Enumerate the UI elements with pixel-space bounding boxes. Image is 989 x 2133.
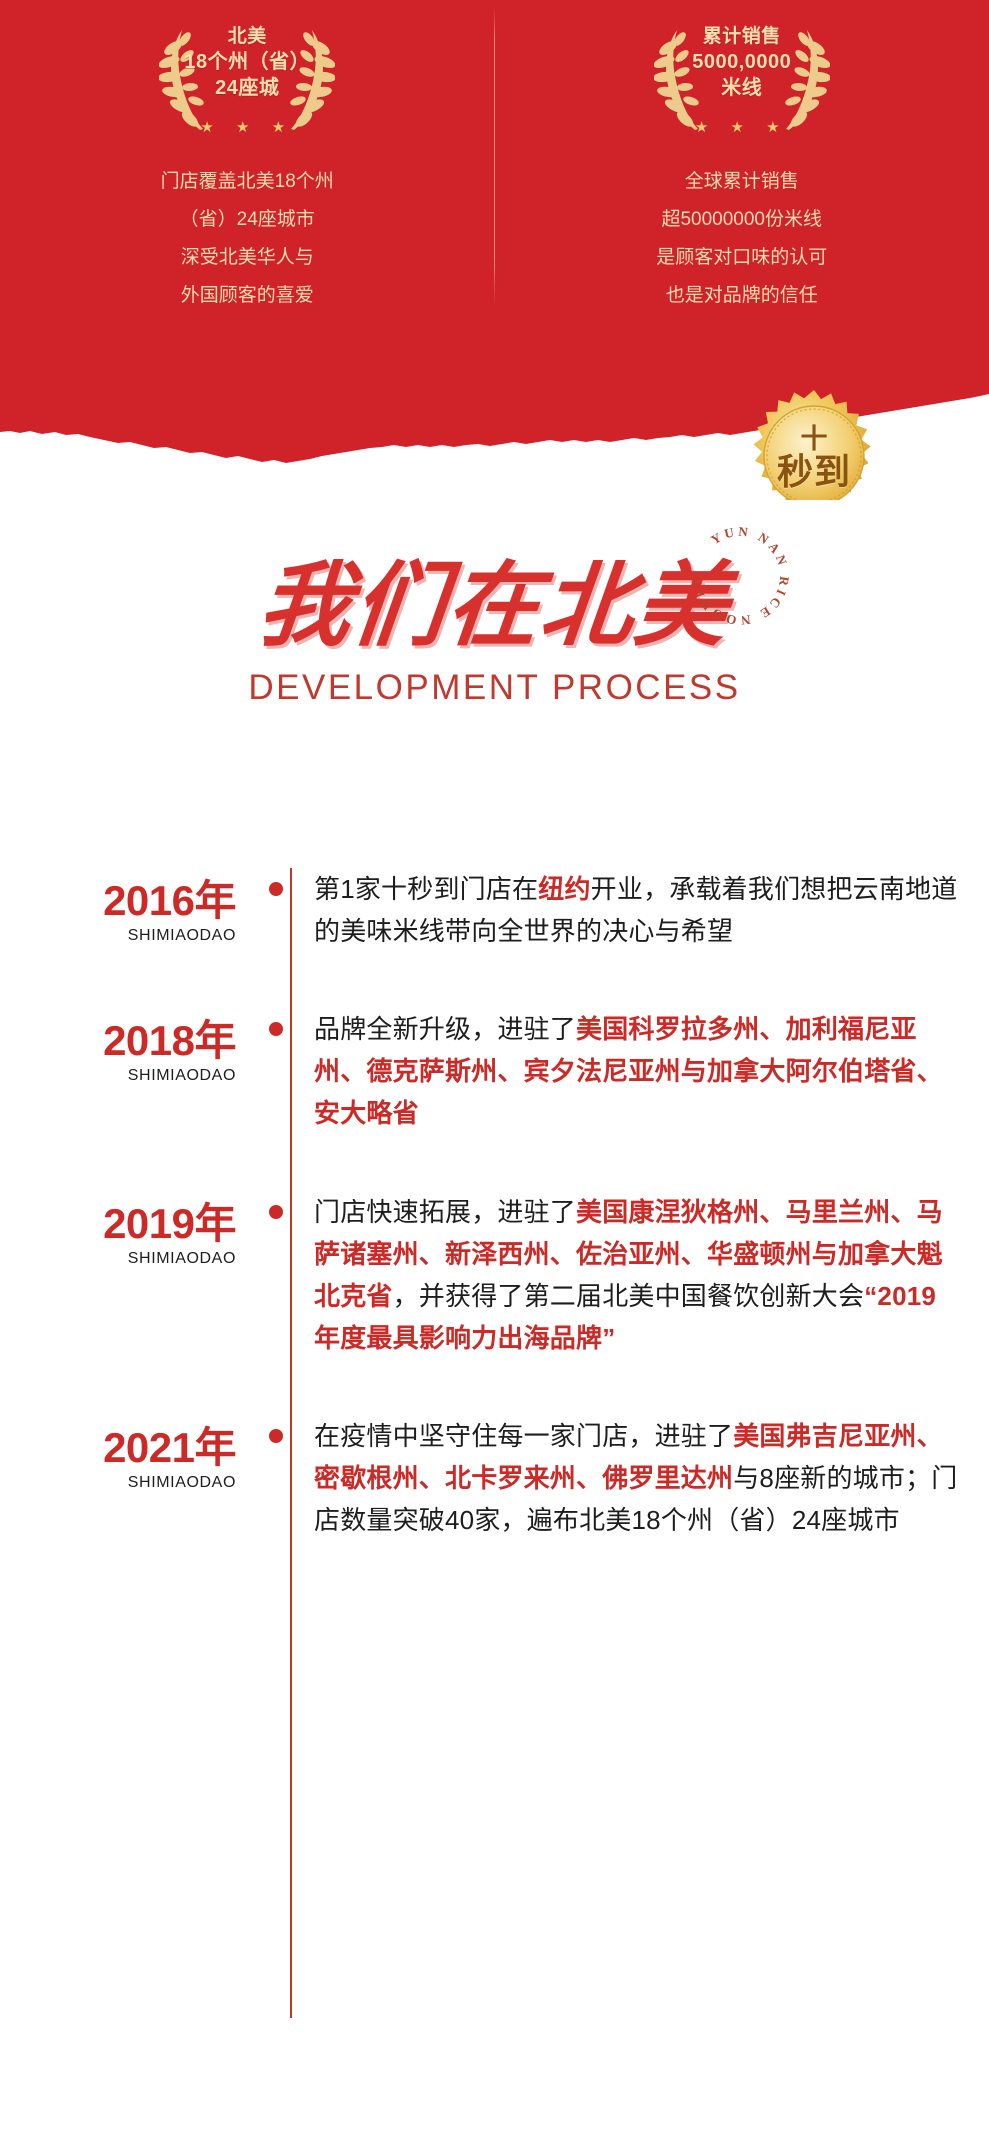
emblem-line-3: 24座城 xyxy=(97,75,397,101)
timeline-year: 2019年 xyxy=(0,1203,236,1245)
hero-paragraph-line: 也是对品牌的信任 xyxy=(656,277,827,315)
svg-text:YUN NAN RICE NOODLE: YUN NAN RICE NOODLE xyxy=(687,524,792,629)
timeline-marker-cell xyxy=(252,868,314,928)
timeline-description: 门店快速拓展，进驻了美国康涅狄格州、马里兰州、马萨诸塞州、新泽西州、佐治亚州、华… xyxy=(314,1191,989,1359)
timeline-dot-icon xyxy=(269,882,283,896)
seal-text-bottom: 秒到 xyxy=(777,453,851,491)
emblem-line-1: 累计销售 xyxy=(592,24,892,49)
timeline-description: 第1家十秒到门店在纽约开业，承载着我们想把云南地道的美味米线带向全世界的决心与希… xyxy=(314,868,989,952)
timeline-pinyin: SHIMIAODAO xyxy=(0,927,236,945)
emblem-text-left: 北美 18个州（省） 24座城 xyxy=(97,24,397,102)
timeline-dot-icon xyxy=(269,1205,283,1219)
hero-paragraph-line: （省）24座城市 xyxy=(161,201,334,239)
emblem-line-1: 北美 xyxy=(97,24,397,49)
hero-paragraph-line: 是顾客对口味的认可 xyxy=(656,239,827,277)
laurel-emblem-left: 北美 18个州（省） 24座城 ★ ★ ★ xyxy=(97,18,397,143)
hero-vertical-divider xyxy=(494,6,495,306)
seal-text: 十 秒到 xyxy=(744,388,884,500)
timeline-marker-cell xyxy=(252,1415,314,1475)
timeline-year-block: 2021年 SHIMIAODAO xyxy=(0,1415,252,1492)
emblem-line-2: 5000,0000 xyxy=(592,49,892,75)
timeline-row: 2019年 SHIMIAODAO 门店快速拓展，进驻了美国康涅狄格州、马里兰州、… xyxy=(0,1191,989,1359)
timeline-year-block: 2016年 SHIMIAODAO xyxy=(0,868,252,945)
timeline-marker-cell xyxy=(252,1008,314,1068)
timeline-segment: 品牌全新升级，进驻了 xyxy=(314,1014,576,1044)
hero-paragraph-line: 全球累计销售 xyxy=(656,163,827,201)
timeline-row: 2016年 SHIMIAODAO 第1家十秒到门店在纽约开业，承载着我们想把云南… xyxy=(0,868,989,952)
hero-columns: 北美 18个州（省） 24座城 ★ ★ ★ 门店覆盖北美18个州 （省）24座城… xyxy=(0,0,989,430)
laurel-emblem-right: 累计销售 5000,0000 米线 ★ ★ ★ xyxy=(592,18,892,143)
timeline-description: 在疫情中坚守住每一家门店，进驻了美国弗吉尼亚州、密歇根州、北卡罗来州、佛罗里达州… xyxy=(314,1415,989,1541)
timeline-row: 2021年 SHIMIAODAO 在疫情中坚守住每一家门店，进驻了美国弗吉尼亚州… xyxy=(0,1415,989,1541)
hero-banner: 北美 18个州（省） 24座城 ★ ★ ★ 门店覆盖北美18个州 （省）24座城… xyxy=(0,0,989,500)
hero-paragraph-right: 全球累计销售 超50000000份米线 是顾客对口味的认可 也是对品牌的信任 xyxy=(656,163,827,315)
emblem-stars-left: ★ ★ ★ xyxy=(97,118,397,136)
timeline-segment: 门店快速拓展，进驻了 xyxy=(314,1197,576,1227)
hero-paragraph-line: 门店覆盖北美18个州 xyxy=(161,163,334,201)
page-subtitle: DEVELOPMENT PROCESS xyxy=(0,668,989,708)
emblem-line-2: 18个州（省） xyxy=(97,49,397,75)
hero-paragraph-line: 外国顾客的喜爱 xyxy=(161,277,334,315)
timeline-pinyin: SHIMIAODAO xyxy=(0,1250,236,1268)
timeline-marker-cell xyxy=(252,1191,314,1251)
timeline-dot-icon xyxy=(269,1429,283,1443)
timeline-segment: ，并获得了第二届北美中国餐饮创新大会 xyxy=(393,1281,865,1311)
hero-paragraph-line: 超50000000份米线 xyxy=(656,201,827,239)
timeline-year-block: 2019年 SHIMIAODAO xyxy=(0,1191,252,1268)
timeline-segment-highlight: 纽约 xyxy=(538,874,590,904)
circular-brand-logo-icon: YUN NAN RICE NOODLE xyxy=(680,516,800,636)
timeline-description: 品牌全新升级，进驻了美国科罗拉多州、加利福尼亚州、德克萨斯州、宾夕法尼亚州与加拿… xyxy=(314,1008,989,1134)
timeline-pinyin: SHIMIAODAO xyxy=(0,1067,236,1085)
hero-paragraph-line: 深受北美华人与 xyxy=(161,239,334,277)
timeline-segment: 第1家十秒到门店在 xyxy=(314,874,538,904)
emblem-text-right: 累计销售 5000,0000 米线 xyxy=(592,24,892,102)
timeline-year: 2021年 xyxy=(0,1427,236,1469)
hero-paragraph-left: 门店覆盖北美18个州 （省）24座城市 深受北美华人与 外国顾客的喜爱 xyxy=(161,163,334,315)
emblem-stars-right: ★ ★ ★ xyxy=(592,118,892,136)
gold-seal-badge: 十 秒到 xyxy=(744,388,884,500)
title-wrap: 我们在北美 YUN NAN RICE NOODLE xyxy=(259,560,729,652)
section-title-block: 我们在北美 YUN NAN RICE NOODLE DEVELOPMENT PR… xyxy=(0,560,989,708)
timeline-year-block: 2018年 SHIMIAODAO xyxy=(0,1008,252,1085)
timeline-year: 2018年 xyxy=(0,1020,236,1062)
development-timeline: 2016年 SHIMIAODAO 第1家十秒到门店在纽约开业，承载着我们想把云南… xyxy=(0,868,989,1587)
hero-column-right: 累计销售 5000,0000 米线 ★ ★ ★ 全球累计销售 超50000000… xyxy=(495,0,989,430)
timeline-dot-icon xyxy=(269,1022,283,1036)
page-title: 我们在北美 xyxy=(255,560,735,652)
emblem-line-3: 米线 xyxy=(592,75,892,101)
timeline-year: 2016年 xyxy=(0,880,236,922)
hero-column-left: 北美 18个州（省） 24座城 ★ ★ ★ 门店覆盖北美18个州 （省）24座城… xyxy=(0,0,495,430)
timeline-pinyin: SHIMIAODAO xyxy=(0,1474,236,1492)
timeline-segment: 在疫情中坚守住每一家门店，进驻了 xyxy=(314,1421,733,1451)
seal-text-top: 十 xyxy=(801,425,828,453)
ring-logo-text: YUN NAN RICE NOODLE xyxy=(687,524,792,629)
timeline-row: 2018年 SHIMIAODAO 品牌全新升级，进驻了美国科罗拉多州、加利福尼亚… xyxy=(0,1008,989,1134)
